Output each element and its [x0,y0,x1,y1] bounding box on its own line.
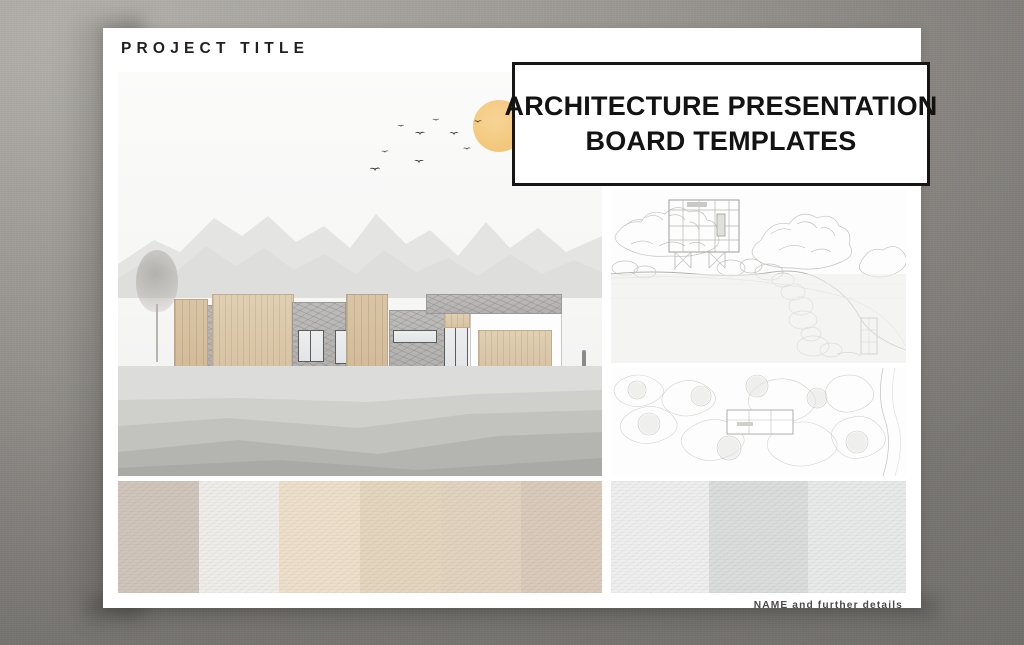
board-footer-credit: NAME and further details [754,600,903,611]
swatch-pale-grey-stone [611,481,709,593]
material-palette-grey [611,481,906,593]
bird-icon [432,119,438,123]
swatch-taupe-concrete [118,481,199,593]
screenshot-stage: PROJECT TITLE [0,0,1024,645]
headline-overlay: ARCHITECTURE PRESENTATION BOARD TEMPLATE… [512,62,930,186]
wood-canopy [444,312,470,328]
entry-glazing [444,324,468,370]
material-palette-warm [118,481,602,593]
swatch-clay-beige [521,481,602,593]
garage-parapet [426,294,562,314]
bird-icon [463,148,470,153]
swatch-soft-grey-render [808,481,906,593]
bird-icon [397,125,403,129]
terrain-foreground [118,366,602,476]
scale-figure [582,350,586,366]
swatch-sand-timber [360,481,441,593]
window-pair [298,330,324,362]
garage-door [478,330,552,370]
swatch-warm-cream [279,481,360,593]
bird-icon [415,132,424,138]
headline-line-1: ARCHITECTURE PRESENTATION [505,89,938,124]
swatch-mid-grey-concrete [709,481,807,593]
bird-icon [370,168,380,175]
wood-volume-2 [212,294,294,369]
bird-icon [449,132,458,138]
swatch-white-plaster [199,481,280,593]
swatch-light-oak [441,481,522,593]
bird-icon [381,151,388,156]
bird-icon [414,160,423,166]
wood-volume-1 [174,299,208,369]
tree-icon [136,250,178,312]
sketch-panel-hillside-cabin [611,188,906,363]
mountain-range [118,178,602,298]
tree-trunk [156,304,158,362]
headline-line-2: BOARD TEMPLATES [586,124,857,159]
wood-volume-3 [346,294,388,369]
page-title: PROJECT TITLE [121,40,309,58]
window-slot [393,330,437,343]
bird-icon [474,120,482,125]
sketch-panel-site-plan [611,368,906,476]
